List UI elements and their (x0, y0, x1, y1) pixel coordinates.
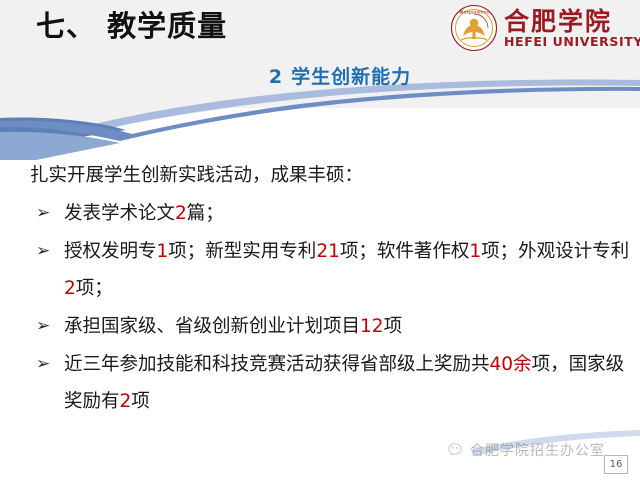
bullet-arrow-icon: ➢ (36, 195, 50, 232)
text-segment: 近三年参加技能和科技竞赛活动获得省部级上奖励共 (64, 354, 490, 375)
achievement-bullet-list: ➢发表学术论文2篇；➢授权发明专1项；新型实用专利21项；软件著作权1项；外观设… (30, 195, 630, 420)
slide-body: 扎实开展学生创新实践活动，成果丰硕： ➢发表学术论文2篇；➢授权发明专1项；新型… (30, 158, 630, 420)
highlighted-figure: 12 (360, 316, 384, 337)
text-segment: 项；新型实用专利 (168, 241, 316, 262)
slide-canvas: 七、 教学质量 真experience 合肥学院 HEFEI UNIVERSIT… (0, 0, 640, 480)
text-segment: 授权发明专 (64, 241, 157, 262)
logo-name-en: HEFEI UNIVERSITY (504, 35, 640, 49)
highlighted-figure: 1 (469, 241, 481, 262)
highlighted-figure: 1 (157, 241, 169, 262)
hefei-university-emblem-icon: 真experience (450, 4, 498, 52)
subtitle-number: 2 (269, 66, 283, 88)
university-logo: 真experience 合肥学院 HEFEI UNIVERSITY (450, 2, 634, 54)
page-number: 16 (604, 455, 628, 474)
highlighted-figure: 40余 (490, 354, 532, 375)
text-segment: 项；软件著作权 (340, 241, 470, 262)
bullet-arrow-icon: ➢ (36, 308, 50, 345)
svg-text:真experience: 真experience (459, 9, 489, 16)
list-item: ➢授权发明专1项；新型实用专利21项；软件著作权1项；外观设计专利2项； (30, 233, 630, 307)
list-item-text: 授权发明专1项；新型实用专利21项；软件著作权1项；外观设计专利2项； (64, 241, 629, 299)
list-item: ➢承担国家级、省级创新创业计划项目12项 (30, 308, 630, 345)
highlighted-figure: 2 (175, 203, 187, 224)
text-segment: 项；外观设计专利 (481, 241, 629, 262)
text-segment: 项 (131, 391, 150, 412)
text-segment: 项； (76, 278, 113, 299)
text-segment: 项 (384, 316, 403, 337)
list-item: ➢近三年参加技能和科技竞赛活动获得省部级上奖励共40余项，国家级奖励有2项 (30, 346, 630, 420)
wechat-icon (448, 442, 465, 459)
highlighted-figure: 2 (64, 278, 76, 299)
watermark-text: 合肥学院招生办公室 (470, 440, 605, 460)
section-subtitle: 2学生创新能力 (200, 62, 480, 89)
highlighted-figure: 2 (120, 391, 132, 412)
lead-paragraph: 扎实开展学生创新实践活动，成果丰硕： (30, 158, 630, 194)
list-item: ➢发表学术论文2篇； (30, 195, 630, 232)
bullet-arrow-icon: ➢ (36, 233, 50, 270)
watermark: 合肥学院招生办公室 (448, 440, 605, 460)
logo-wordmark: 合肥学院 HEFEI UNIVERSITY (504, 8, 640, 49)
highlighted-figure: 21 (316, 241, 340, 262)
list-item-text: 发表学术论文2篇； (64, 203, 224, 224)
list-item-text: 近三年参加技能和科技竞赛活动获得省部级上奖励共40余项，国家级奖励有2项 (64, 354, 624, 412)
text-segment: 承担国家级、省级创新创业计划项目 (64, 316, 360, 337)
page-title: 七、 教学质量 (36, 6, 227, 46)
text-segment: 篇； (187, 203, 224, 224)
subtitle-label: 学生创新能力 (291, 66, 411, 88)
list-item-text: 承担国家级、省级创新创业计划项目12项 (64, 316, 402, 337)
text-segment: 发表学术论文 (64, 203, 175, 224)
bullet-arrow-icon: ➢ (36, 346, 50, 383)
logo-name-cn: 合肥学院 (504, 8, 640, 35)
